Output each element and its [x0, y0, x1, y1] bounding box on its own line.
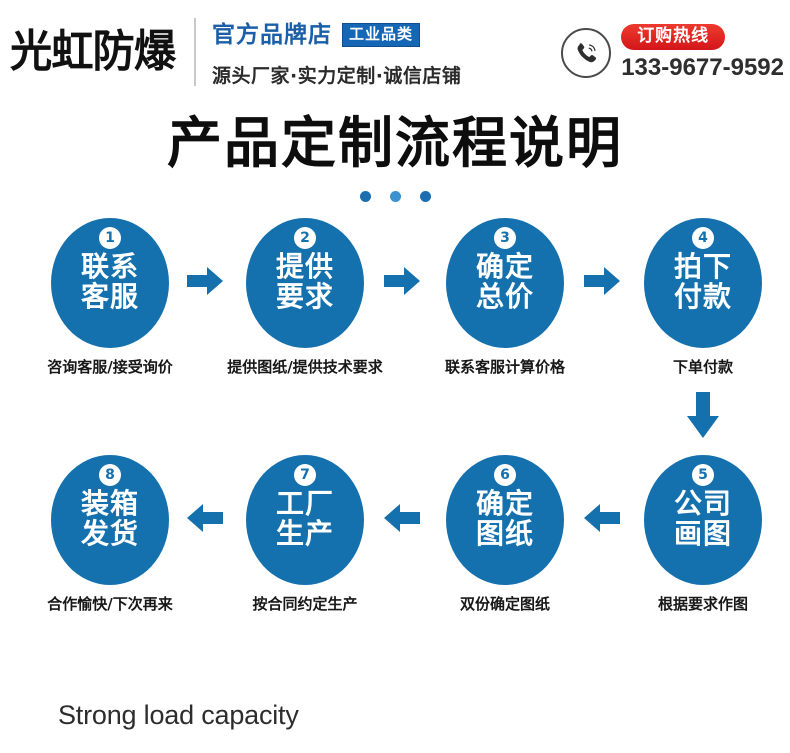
hotline-number: 133-9677-9592 [621, 54, 784, 82]
step-circle: 4 拍下 付款 [644, 218, 762, 348]
arrow-right-icon [382, 263, 422, 299]
step-label: 公司 画图 [674, 489, 732, 549]
step-number-badge: 3 [494, 227, 516, 249]
step-caption: 根据要求作图 [600, 593, 790, 614]
hotline-text-group: 订购热线 133-9677-9592 [621, 24, 784, 82]
flow-step-place-order-payment[interactable]: 4 拍下 付款 下单付款 [640, 218, 766, 383]
step-caption: 咨询客服/接受询价 [7, 356, 213, 377]
title-dot-decoration [0, 191, 790, 202]
header-divider [194, 18, 196, 86]
flow-step-confirm-total-price[interactable]: 3 确定 总价 联系客服计算价格 [442, 218, 568, 383]
step-caption: 双份确定图纸 [402, 593, 608, 614]
flow-row-1: 1 联系 客服 咨询客服/接受询价 2 提供 要求 提供图纸/提供技术要求 3 … [0, 218, 790, 383]
brand-logo-text: 光虹防爆 [10, 30, 175, 74]
hotline-block[interactable]: 订购热线 133-9677-9592 [561, 20, 784, 86]
step-circle: 3 确定 总价 [446, 218, 564, 348]
flow-step-packing-shipping[interactable]: 8 装箱 发货 合作愉快/下次再来 [47, 455, 173, 620]
step-label: 确定 总价 [476, 252, 534, 312]
hotline-label: 订购热线 [621, 24, 725, 50]
flow-step-provide-requirements[interactable]: 2 提供 要求 提供图纸/提供技术要求 [242, 218, 368, 383]
step-label: 联系 客服 [81, 252, 139, 312]
arrow-down-icon [683, 390, 723, 440]
step-number-badge: 5 [692, 464, 714, 486]
phone-handset-icon [561, 28, 611, 78]
step-circle: 2 提供 要求 [246, 218, 364, 348]
page-title: 产品定制流程说明 [0, 113, 790, 174]
step-circle: 1 联系 客服 [51, 218, 169, 348]
arrow-left-icon [582, 500, 622, 536]
step-caption: 下单付款 [600, 356, 790, 377]
step-circle: 6 确定 图纸 [446, 455, 564, 585]
brand-info-line-1: 官方品牌店 工业品类 [212, 20, 612, 50]
step-label: 提供 要求 [276, 252, 334, 312]
step-label: 确定 图纸 [476, 489, 534, 549]
title-dot-1 [360, 191, 371, 202]
step-circle: 8 装箱 发货 [51, 455, 169, 585]
step-number-badge: 1 [99, 227, 121, 249]
step-caption: 联系客服计算价格 [402, 356, 608, 377]
step-caption: 按合同约定生产 [202, 593, 408, 614]
arrow-left-icon [382, 500, 422, 536]
step-number-badge: 8 [99, 464, 121, 486]
step-number-badge: 6 [494, 464, 516, 486]
title-dot-2 [390, 191, 401, 202]
arrow-right-icon [185, 263, 225, 299]
step-caption: 合作愉快/下次再来 [7, 593, 213, 614]
arrow-right-icon [582, 263, 622, 299]
step-label: 拍下 付款 [674, 252, 732, 312]
step-label: 装箱 发货 [81, 489, 139, 549]
step-number-badge: 7 [294, 464, 316, 486]
step-label: 工厂 生产 [276, 489, 334, 549]
step-caption: 提供图纸/提供技术要求 [202, 356, 408, 377]
official-store-label: 官方品牌店 [212, 24, 332, 47]
flow-step-contact-service[interactable]: 1 联系 客服 咨询客服/接受询价 [47, 218, 173, 383]
flow-step-factory-production[interactable]: 7 工厂 生产 按合同约定生产 [242, 455, 368, 620]
step-number-badge: 2 [294, 227, 316, 249]
step-circle: 5 公司 画图 [644, 455, 762, 585]
footer-caption: Strong load capacity [58, 700, 299, 731]
industrial-category-badge: 工业品类 [342, 23, 420, 47]
page-header: 光虹防爆 官方品牌店 工业品类 源头厂家·实力定制·诚信店铺 订购热线 133-… [0, 0, 790, 108]
flow-row-2: 8 装箱 发货 合作愉快/下次再来 7 工厂 生产 按合同约定生产 6 确定 图… [0, 455, 790, 620]
flow-step-company-drawing[interactable]: 5 公司 画图 根据要求作图 [640, 455, 766, 620]
arrow-left-icon [185, 500, 225, 536]
title-dot-3 [420, 191, 431, 202]
brand-tagline: 源头厂家·实力定制·诚信店铺 [212, 61, 612, 88]
brand-info: 官方品牌店 工业品类 源头厂家·实力定制·诚信店铺 [212, 20, 612, 88]
flow-step-confirm-drawings[interactable]: 6 确定 图纸 双份确定图纸 [442, 455, 568, 620]
step-number-badge: 4 [692, 227, 714, 249]
step-circle: 7 工厂 生产 [246, 455, 364, 585]
brand-logo[interactable]: 光虹防爆 [10, 20, 182, 84]
